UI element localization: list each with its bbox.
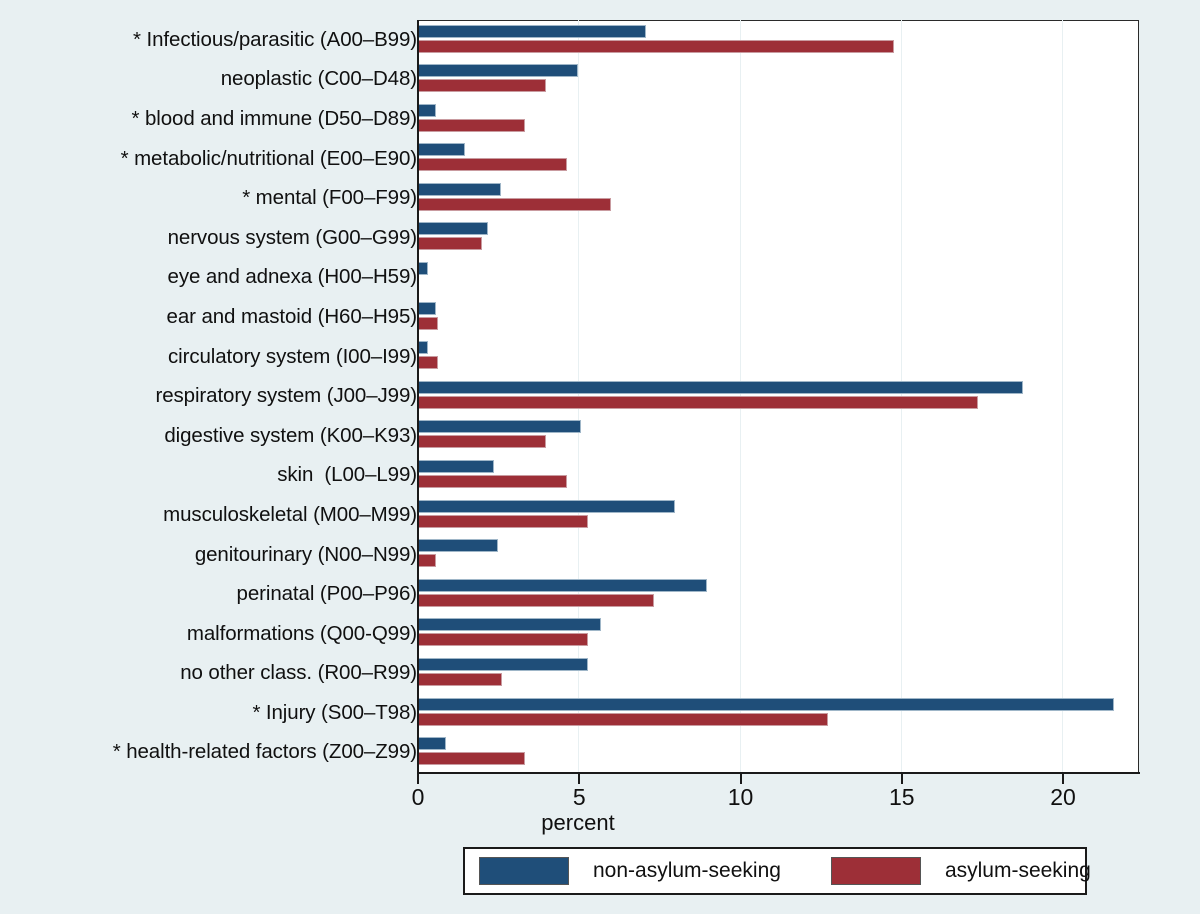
bar-row: * metabolic/nutritional (E00–E90)	[0, 139, 1200, 179]
bar-asylum-seeking	[417, 515, 588, 528]
chart-root: * Infectious/parasitic (A00–B99)neoplast…	[0, 0, 1200, 914]
bar-rows: * Infectious/parasitic (A00–B99)neoplast…	[0, 20, 1200, 772]
bar-row: nervous system (G00–G99)	[0, 218, 1200, 258]
category-label: perinatal (P00–P96)	[237, 582, 417, 606]
bar-row: skin (L00–L99)	[0, 456, 1200, 496]
x-tick-mark	[901, 774, 903, 784]
legend-item-non-asylum-seeking[interactable]: non-asylum-seeking	[479, 849, 781, 893]
bar-non-asylum-seeking	[417, 420, 581, 433]
bar-asylum-seeking	[417, 237, 482, 250]
bar-non-asylum-seeking	[417, 500, 675, 513]
x-tick-label: 15	[889, 784, 915, 811]
x-axis-line	[417, 772, 1140, 774]
bar-asylum-seeking	[417, 198, 611, 211]
bar-non-asylum-seeking	[417, 183, 501, 196]
x-tick-mark	[417, 774, 419, 784]
bar-asylum-seeking	[417, 594, 654, 607]
x-tick-label: 20	[1050, 784, 1076, 811]
x-tick-mark	[578, 774, 580, 784]
bar-row: * health-related factors (Z00–Z99)	[0, 733, 1200, 773]
bar-non-asylum-seeking	[417, 104, 436, 117]
category-label: * mental (F00–F99)	[242, 186, 417, 210]
chart-legend: non-asylum-seeking asylum-seeking	[463, 847, 1087, 895]
bar-non-asylum-seeking	[417, 658, 588, 671]
bar-row: no other class. (R00–R99)	[0, 654, 1200, 694]
bar-row: * mental (F00–F99)	[0, 178, 1200, 218]
bar-non-asylum-seeking	[417, 737, 446, 750]
bar-non-asylum-seeking	[417, 222, 488, 235]
bar-asylum-seeking	[417, 752, 525, 765]
x-axis-title-label: percent	[541, 810, 614, 835]
legend-swatch-icon-red	[831, 857, 921, 885]
bar-asylum-seeking	[417, 356, 438, 369]
category-label: eye and adnexa (H00–H59)	[168, 265, 417, 289]
bar-asylum-seeking	[417, 713, 828, 726]
bar-row: malformations (Q00-Q99)	[0, 614, 1200, 654]
bar-asylum-seeking	[417, 554, 436, 567]
bar-non-asylum-seeking	[417, 381, 1023, 394]
bar-non-asylum-seeking	[417, 460, 494, 473]
x-tick-label: 5	[573, 784, 586, 811]
category-label: skin (L00–L99)	[277, 463, 417, 487]
bar-row: circulatory system (I00–I99)	[0, 337, 1200, 377]
bar-non-asylum-seeking	[417, 579, 707, 592]
category-label: * Infectious/parasitic (A00–B99)	[133, 28, 417, 52]
bar-row: ear and mastoid (H60–H95)	[0, 297, 1200, 337]
bar-non-asylum-seeking	[417, 539, 498, 552]
bar-asylum-seeking	[417, 158, 567, 171]
bar-asylum-seeking	[417, 79, 546, 92]
category-label: ear and mastoid (H60–H95)	[167, 305, 417, 329]
category-label: * blood and immune (D50–D89)	[131, 107, 417, 131]
x-tick-label: 10	[728, 784, 754, 811]
category-label: genitourinary (N00–N99)	[195, 543, 417, 567]
bar-row: genitourinary (N00–N99)	[0, 535, 1200, 575]
legend-label-non-asylum-seeking: non-asylum-seeking	[593, 859, 781, 883]
category-label: * metabolic/nutritional (E00–E90)	[121, 147, 417, 171]
category-label: nervous system (G00–G99)	[168, 226, 417, 250]
bar-asylum-seeking	[417, 673, 502, 686]
bar-non-asylum-seeking	[417, 64, 578, 77]
category-label: circulatory system (I00–I99)	[168, 345, 417, 369]
bar-asylum-seeking	[417, 475, 567, 488]
y-axis-line	[417, 20, 419, 773]
bar-non-asylum-seeking	[417, 143, 465, 156]
bar-non-asylum-seeking	[417, 302, 436, 315]
category-label: digestive system (K00–K93)	[164, 424, 417, 448]
category-label: musculoskeletal (M00–M99)	[163, 503, 417, 527]
category-label: * health-related factors (Z00–Z99)	[113, 740, 417, 764]
category-label: * Injury (S00–T98)	[252, 701, 417, 725]
bar-row: perinatal (P00–P96)	[0, 574, 1200, 614]
category-label: respiratory system (J00–J99)	[155, 384, 417, 408]
bar-row: neoplastic (C00–D48)	[0, 60, 1200, 100]
bar-asylum-seeking	[417, 396, 978, 409]
bar-row: * Infectious/parasitic (A00–B99)	[0, 20, 1200, 60]
x-tick-mark	[1062, 774, 1064, 784]
bar-asylum-seeking	[417, 40, 894, 53]
legend-item-asylum-seeking[interactable]: asylum-seeking	[831, 849, 1091, 893]
bar-row: * blood and immune (D50–D89)	[0, 99, 1200, 139]
bar-non-asylum-seeking	[417, 618, 601, 631]
bar-row: musculoskeletal (M00–M99)	[0, 495, 1200, 535]
bar-row: * Injury (S00–T98)	[0, 693, 1200, 733]
category-label: no other class. (R00–R99)	[180, 661, 417, 685]
bar-row: respiratory system (J00–J99)	[0, 376, 1200, 416]
legend-label-asylum-seeking: asylum-seeking	[945, 859, 1091, 883]
bar-row: eye and adnexa (H00–H59)	[0, 258, 1200, 298]
x-tick-label: 0	[412, 784, 425, 811]
bar-asylum-seeking	[417, 633, 588, 646]
category-label: neoplastic (C00–D48)	[221, 67, 417, 91]
bar-asylum-seeking	[417, 435, 546, 448]
legend-swatch-icon-blue	[479, 857, 569, 885]
bar-non-asylum-seeking	[417, 25, 646, 38]
x-axis-title: percent	[0, 810, 1200, 836]
bar-asylum-seeking	[417, 119, 525, 132]
category-label: malformations (Q00-Q99)	[187, 622, 417, 646]
bar-non-asylum-seeking	[417, 698, 1114, 711]
bar-asylum-seeking	[417, 317, 438, 330]
bar-row: digestive system (K00–K93)	[0, 416, 1200, 456]
x-tick-mark	[740, 774, 742, 784]
